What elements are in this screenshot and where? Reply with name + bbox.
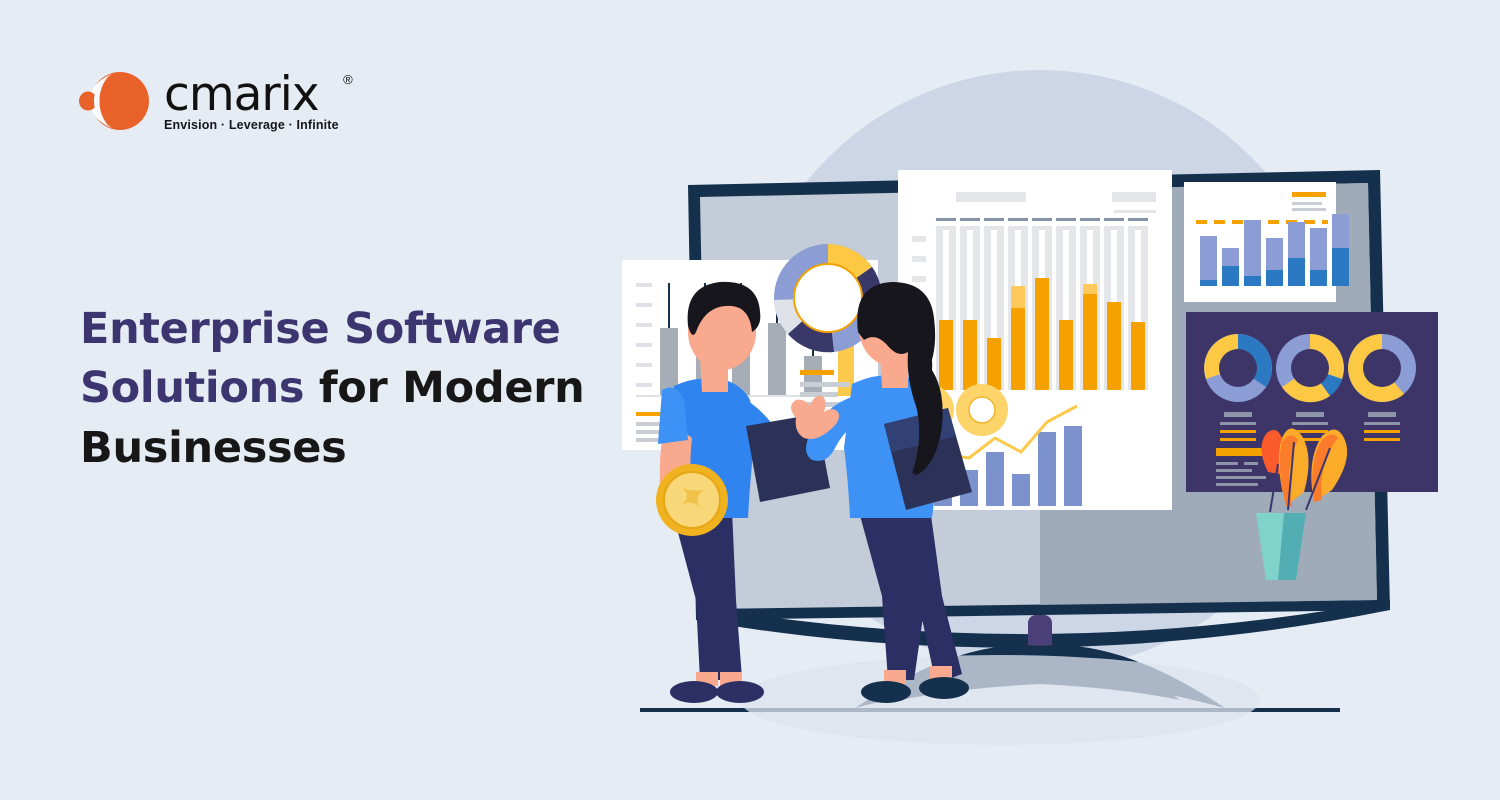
center-card-progress-bar-chart bbox=[936, 218, 1148, 390]
hero-illustration bbox=[600, 40, 1480, 760]
logo-name: cmarix bbox=[164, 72, 339, 117]
logo-wordmark: cmarix ® Envision · Leverage · Infinite bbox=[164, 70, 339, 132]
purple-card-donut-3 bbox=[1348, 334, 1416, 402]
purple-card-donut-2 bbox=[1276, 334, 1344, 402]
brand-logo[interactable]: cmarix ® Envision · Leverage · Infinite bbox=[78, 70, 339, 132]
registered-mark-icon: ® bbox=[343, 72, 353, 87]
logo-tagline: Envision · Leverage · Infinite bbox=[164, 118, 339, 132]
man-shoe-right bbox=[716, 681, 764, 703]
headline-accent-line2: Solutions bbox=[80, 363, 304, 413]
floor-shadow bbox=[740, 655, 1260, 745]
hero-banner: cmarix ® Envision · Leverage · Infinite … bbox=[0, 0, 1500, 800]
headline-accent-line1: Enterprise Software bbox=[80, 304, 561, 354]
page-title: Enterprise Software Solutions for Modern… bbox=[80, 300, 640, 478]
cmarix-logo-icon bbox=[78, 70, 150, 132]
headline-plain-line3: Businesses bbox=[80, 423, 346, 473]
right-bar-card bbox=[1184, 182, 1349, 302]
man-shoe-left bbox=[670, 681, 718, 703]
woman-shoe-left bbox=[861, 681, 911, 703]
woman-shoe-right bbox=[919, 677, 969, 699]
purple-card-donut-1 bbox=[1204, 334, 1272, 402]
gold-coin-icon bbox=[656, 464, 728, 536]
headline-plain-line2: for Modern bbox=[304, 363, 584, 413]
